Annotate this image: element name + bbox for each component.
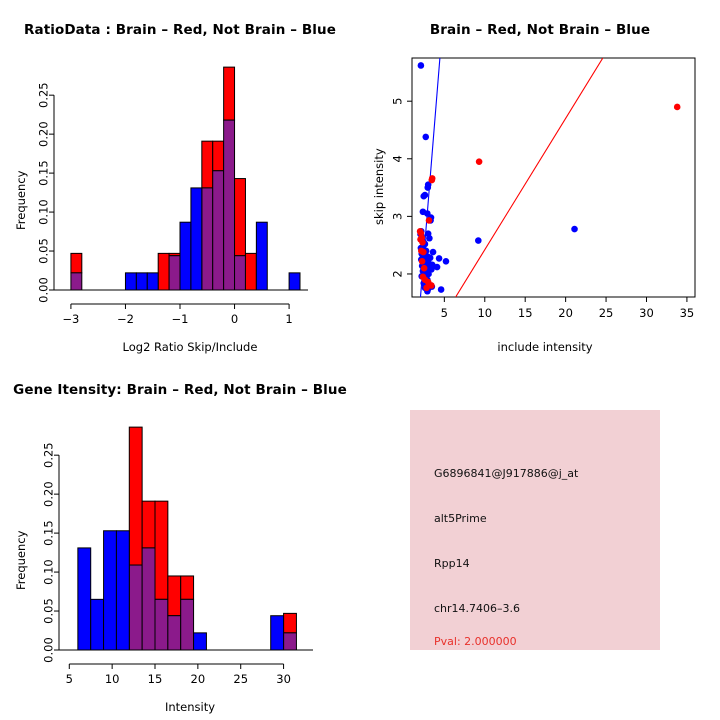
svg-text:15: 15 — [518, 306, 533, 320]
gene-probe-id: G6896841@J917886@j_at — [434, 467, 578, 480]
svg-text:0.00: 0.00 — [37, 277, 51, 303]
svg-text:0.15: 0.15 — [42, 520, 56, 546]
svg-text:4: 4 — [391, 155, 405, 162]
panel-intensity-scatter: Brain – Red, Not Brain – Blue 5101520253… — [360, 0, 720, 360]
ratio-histogram-bars — [71, 67, 300, 290]
svg-text:0.05: 0.05 — [42, 598, 56, 624]
svg-text:0.20: 0.20 — [42, 481, 56, 507]
gene-histogram-plot: 0.000.050.100.150.200.2551015202530 — [0, 360, 360, 720]
ratio-histogram-xlabel: Log2 Ratio Skip/Include — [60, 340, 320, 354]
svg-text:0.25: 0.25 — [37, 82, 51, 108]
pval-label: Pval: 2.000000 — [434, 635, 517, 648]
svg-text:0: 0 — [231, 312, 238, 326]
svg-text:3: 3 — [391, 213, 405, 220]
chromosome-location: chr14.7406–3.6 — [434, 602, 520, 615]
svg-text:0.15: 0.15 — [37, 160, 51, 186]
svg-text:0.00: 0.00 — [42, 637, 56, 663]
panel-gene-intensity-histogram: Gene Itensity: Brain – Red, Not Brain – … — [0, 360, 360, 720]
gene-histogram-xlabel: Intensity — [60, 700, 320, 714]
svg-text:30: 30 — [639, 306, 654, 320]
panel-ratio-histogram: RatioData : Brain – Red, Not Brain – Blu… — [0, 0, 360, 360]
scatter-frame — [412, 58, 695, 297]
scatter-plot: 51015202530352345 — [360, 0, 720, 360]
svg-text:10: 10 — [105, 672, 120, 686]
svg-text:20: 20 — [191, 672, 206, 686]
svg-text:−2: −2 — [117, 312, 134, 326]
svg-text:1: 1 — [285, 312, 292, 326]
svg-text:−1: −1 — [172, 312, 189, 326]
svg-text:0.20: 0.20 — [37, 121, 51, 147]
gene-histogram-bars — [78, 427, 297, 650]
svg-text:5: 5 — [441, 306, 448, 320]
svg-text:0.25: 0.25 — [42, 442, 56, 468]
svg-text:0.05: 0.05 — [37, 238, 51, 264]
svg-text:5: 5 — [66, 672, 73, 686]
svg-text:15: 15 — [148, 672, 163, 686]
scatter-ylabel: skip intensity — [372, 148, 386, 225]
svg-text:20: 20 — [558, 306, 573, 320]
gene-info-box: G6896841@J917886@j_at alt5Prime Rpp14 ch… — [410, 410, 660, 650]
svg-text:0.10: 0.10 — [37, 199, 51, 225]
svg-text:30: 30 — [276, 672, 291, 686]
svg-text:25: 25 — [233, 672, 248, 686]
svg-text:2: 2 — [391, 270, 405, 277]
svg-text:0.10: 0.10 — [42, 559, 56, 585]
panel-gene-info: G6896841@J917886@j_at alt5Prime Rpp14 ch… — [360, 360, 720, 720]
gene-symbol: Rpp14 — [434, 557, 470, 570]
scatter-xlabel: include intensity — [415, 340, 675, 354]
splice-event-type: alt5Prime — [434, 512, 487, 525]
svg-text:10: 10 — [477, 306, 492, 320]
scatter-axes: 51015202530352345 — [391, 98, 695, 320]
svg-text:25: 25 — [599, 306, 614, 320]
ratio-histogram-plot: 0.000.050.100.150.200.25−3−2−101 — [0, 0, 360, 360]
ratio-histogram-ylabel: Frequency — [14, 171, 28, 230]
svg-text:5: 5 — [391, 98, 405, 105]
scatter-points — [417, 62, 681, 294]
svg-text:−3: −3 — [62, 312, 79, 326]
gene-histogram-ylabel: Frequency — [14, 531, 28, 590]
figure-canvas: RatioData : Brain – Red, Not Brain – Blu… — [0, 0, 720, 720]
svg-text:35: 35 — [680, 306, 695, 320]
